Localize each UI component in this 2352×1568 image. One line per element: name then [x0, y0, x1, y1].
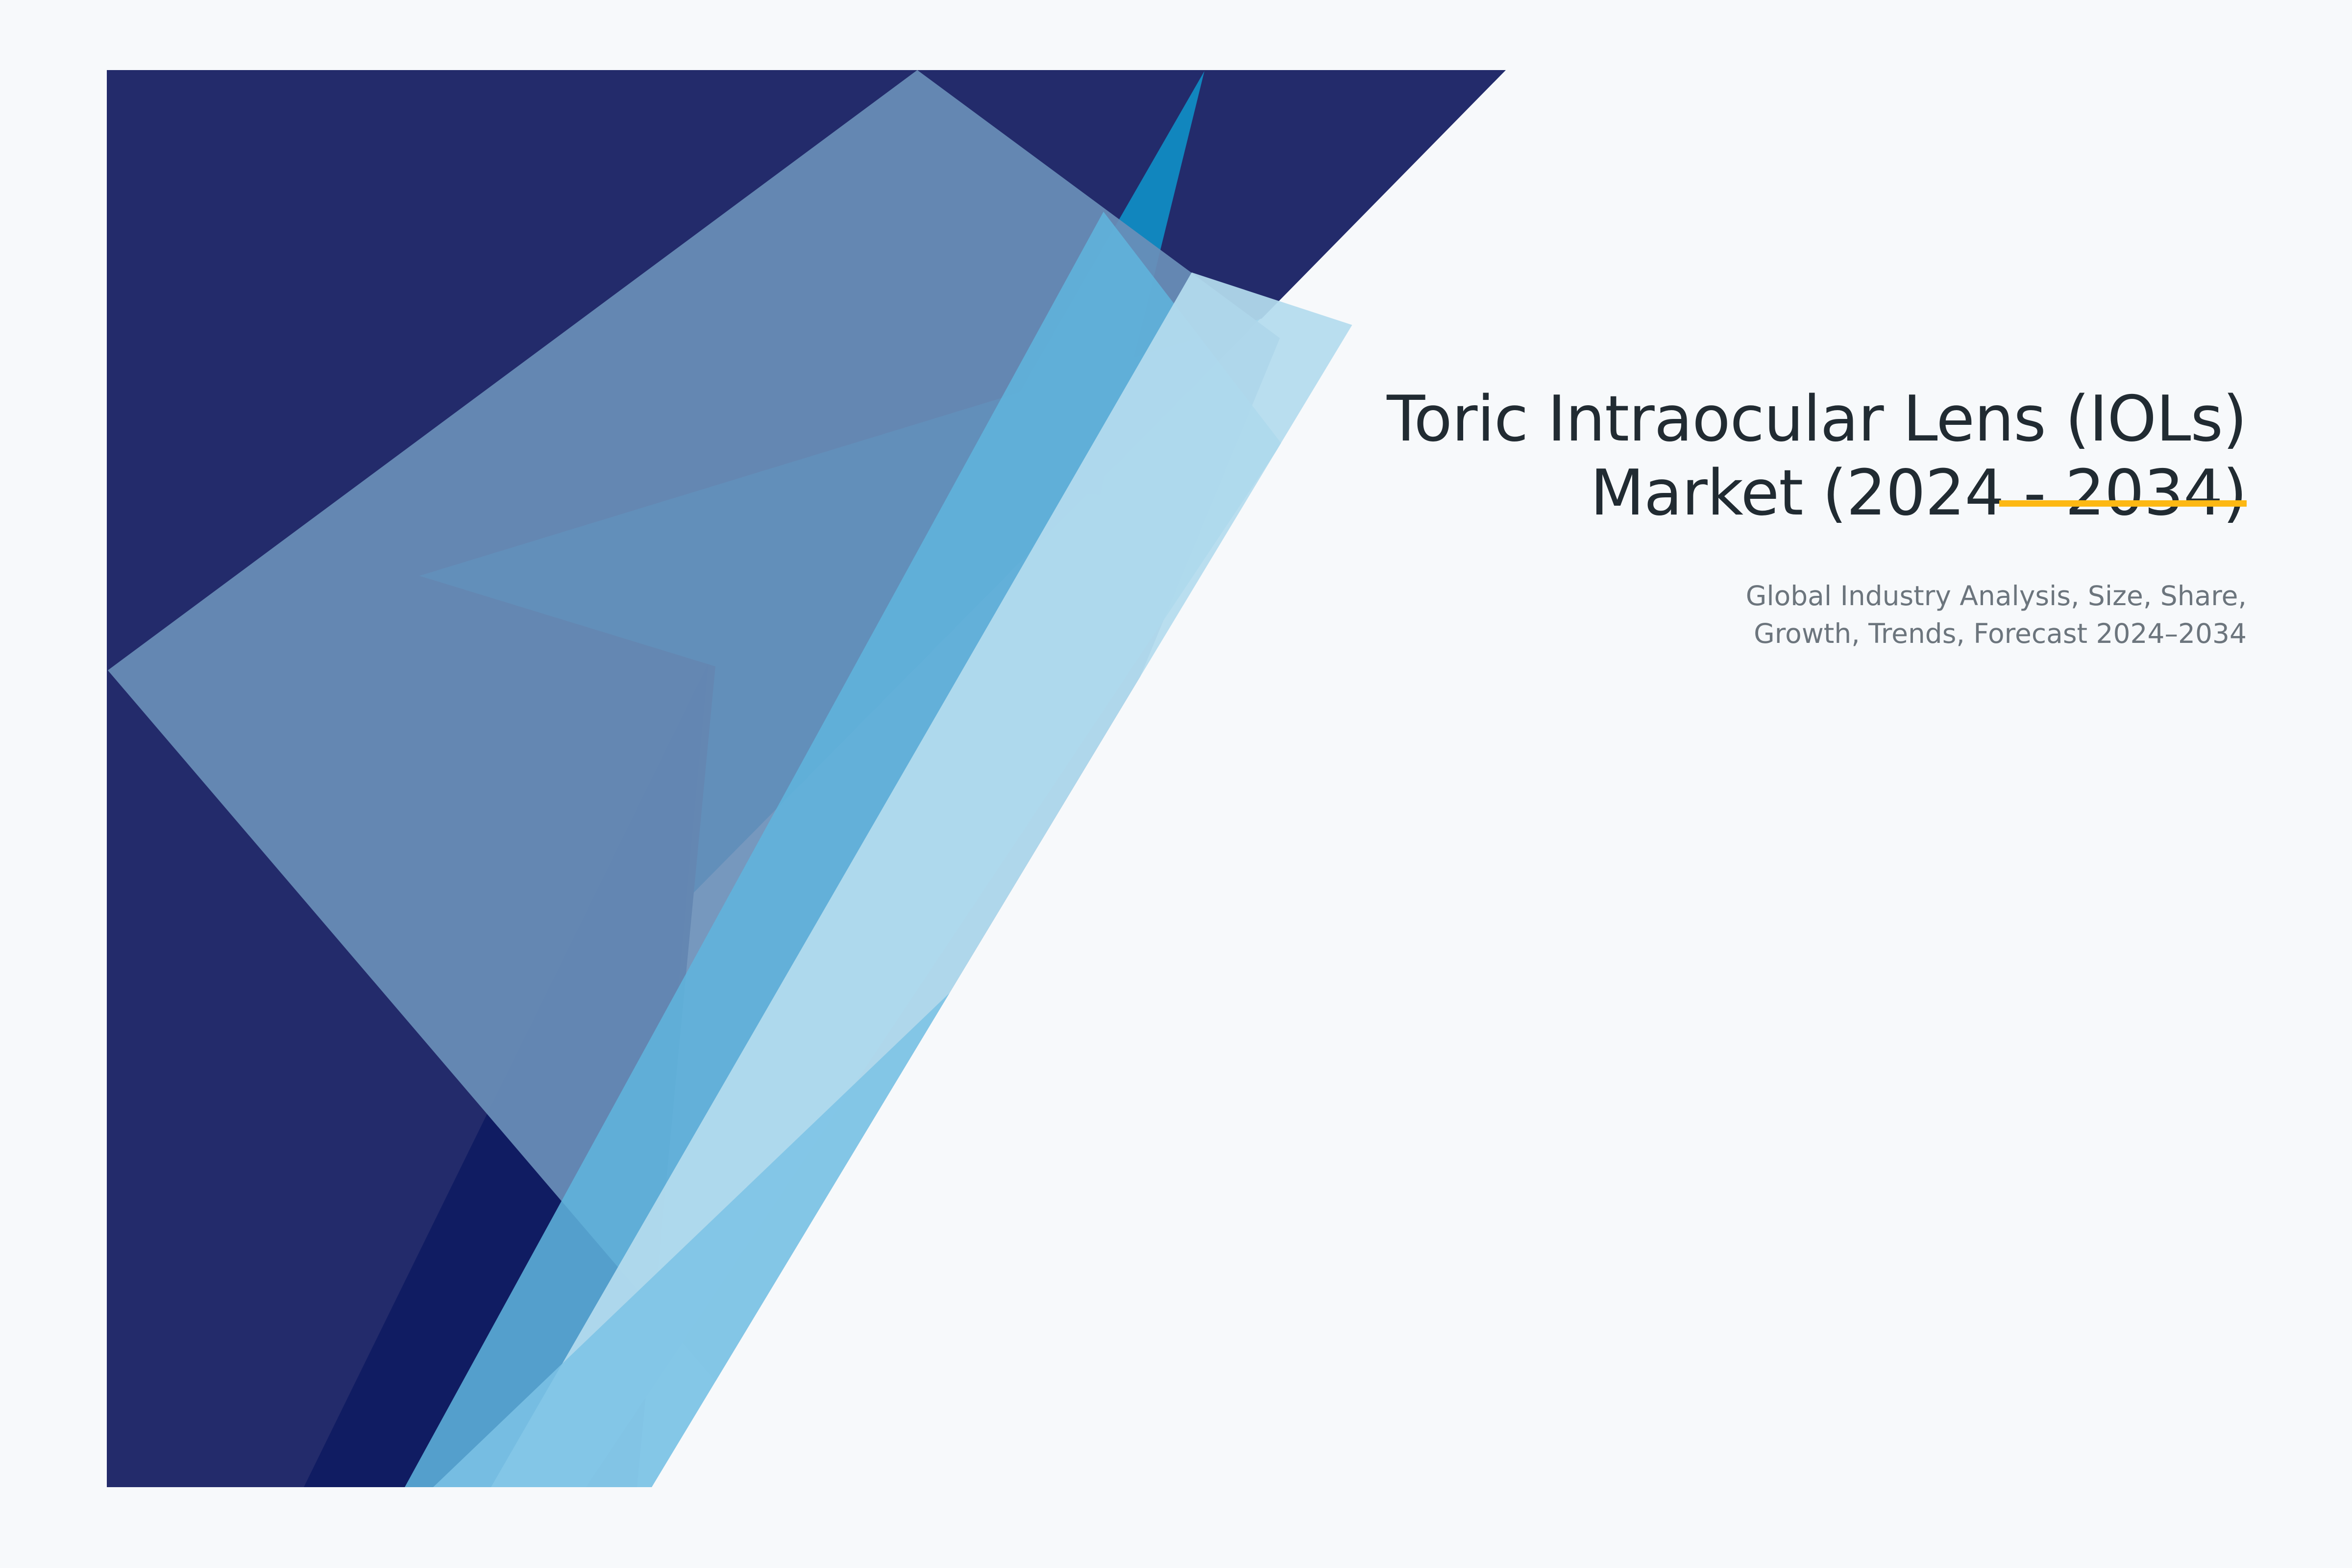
cover-text-block: Toric Intraocular Lens (IOLs) Market (20…: [1120, 382, 2247, 653]
cover-page: Toric Intraocular Lens (IOLs) Market (20…: [0, 0, 2352, 1568]
abstract-geometric-artwork: [0, 0, 2352, 1568]
page-subtitle: Global Industry Analysis, Size, Share, G…: [1634, 577, 2247, 653]
title-accent-underline: [1999, 500, 2247, 507]
page-title: Toric Intraocular Lens (IOLs) Market (20…: [1120, 382, 2247, 530]
title-wrapper: Toric Intraocular Lens (IOLs) Market (20…: [1120, 382, 2247, 530]
